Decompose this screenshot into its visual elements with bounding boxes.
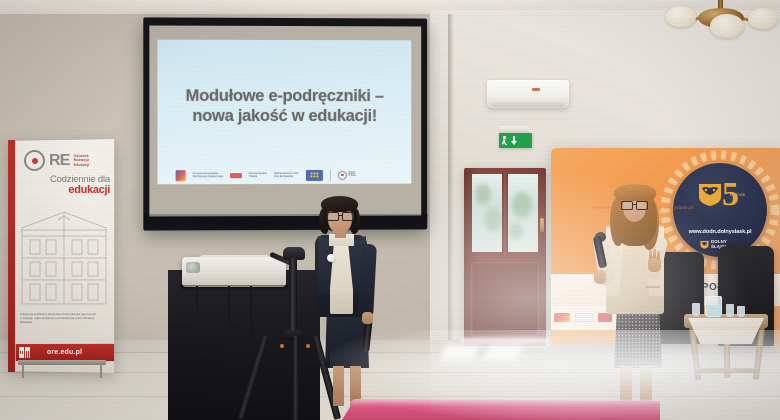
wall-corner [448, 14, 454, 354]
rzeczpospolita-polska-label: RzeczpospolitaPolska [249, 172, 267, 178]
partner-logo-icon [575, 313, 593, 322]
ore-banner-body-text: Instytucja publiczną placówką doskonalen… [20, 312, 98, 325]
rzeczpospolita-polska-logo-icon [230, 173, 242, 178]
anniversary-note: LAT/25 [730, 192, 745, 197]
air-conditioner-vent [491, 101, 565, 107]
ore-banner-url: ore.edu.pl [47, 349, 82, 356]
partner-logo-icon [554, 313, 570, 322]
tripod-leg [292, 336, 299, 420]
drinking-glass [726, 304, 734, 317]
logo-divider [330, 169, 331, 180]
banner-leg [100, 364, 102, 378]
tripod-center-column [289, 258, 297, 336]
dolnoslaskie-eagle-crest-icon [697, 180, 723, 206]
presenter-1-fringe [321, 196, 358, 212]
presenter-2-hand [594, 270, 606, 284]
screen-drop-shadow [144, 214, 428, 232]
slide-logo-strip: Fundusze EuropejskieDla Rozwoju Społeczn… [176, 167, 394, 183]
chandelier [662, 0, 780, 54]
air-conditioner-indicator [532, 88, 540, 91]
door-glass-pane-left [472, 174, 502, 252]
ore-banner-tagline-accent: edukacji [24, 184, 110, 196]
banner-red-stripe [8, 140, 15, 372]
drinking-glass [737, 306, 745, 317]
presenter-2-gesturing-hand [648, 256, 661, 272]
tripod-leg-lock[interactable] [306, 344, 310, 348]
projection-screen-frame: Modułowe e-podręczniki – nowa jakość w e… [143, 17, 427, 230]
slide-title: Modułowe e-podręczniki – nowa jakość w e… [157, 86, 411, 126]
presentation-slide: Modułowe e-podręczniki – nowa jakość w e… [157, 40, 411, 185]
pitcher-water [706, 305, 721, 316]
presenter-1-hand [362, 312, 373, 324]
fundusze-europejskie-logo-icon [176, 170, 186, 181]
banner-base-foot [18, 360, 106, 365]
ore-logo-icon: RE [338, 170, 356, 179]
dolny-slask-crest-icon [700, 240, 709, 249]
door-lower-panel [471, 262, 539, 336]
slide-title-line-2: nowa jakość w edukacji! [157, 106, 411, 126]
drinking-glass [692, 303, 700, 316]
ore-ring-icon [24, 150, 45, 171]
banner-leg [22, 364, 24, 378]
presenter-2-glasses [621, 201, 647, 209]
floor-light-sheen [330, 330, 780, 420]
ore-banner-logo-subtitle: OśrodekRozwojuEdukacji [74, 154, 90, 167]
presenter-2-pocket [646, 286, 660, 288]
dofinansowane-ue-label: Dofinansowane przezUnię Europejską [274, 172, 299, 178]
emergency-exit-sign [499, 133, 532, 148]
presenter-2-fringe [614, 184, 656, 201]
ore-banner-footer-bar: ore.edu.pl [16, 344, 114, 361]
exit-arrow-icon [510, 136, 517, 145]
av-cable [228, 286, 244, 330]
door-glass-pane-right [508, 174, 538, 252]
running-man-icon [502, 136, 508, 145]
ore-banner-logo: RE OśrodekRozwojuEdukacji [24, 150, 110, 171]
av-cable [196, 286, 208, 316]
door-mullion [502, 172, 508, 256]
qr-code-icon [19, 347, 30, 358]
ore-logo-text: RE [348, 172, 356, 178]
dodn-url: www.dodn.dolnyslask.pl [673, 229, 767, 235]
tripod-leg-lock[interactable] [280, 344, 284, 348]
door-handle[interactable] [540, 218, 544, 232]
presenter-1-name-badge [327, 254, 335, 262]
building-line-drawing-icon [18, 200, 110, 308]
presenter-1-glasses [327, 212, 353, 220]
eu-flag-icon [306, 169, 323, 180]
conference-photo-scene: Modułowe e-podręczniki – nowa jakość w e… [0, 0, 780, 420]
ore-banner-logo-text: RE [49, 153, 70, 169]
fundusze-europejskie-label: Fundusze EuropejskieDla Rozwoju Społeczn… [193, 172, 223, 178]
slide-title-line-1: Modułowe e-podręczniki – [157, 86, 411, 106]
exit-sign-housing [499, 126, 529, 133]
projector-lens [186, 262, 200, 273]
